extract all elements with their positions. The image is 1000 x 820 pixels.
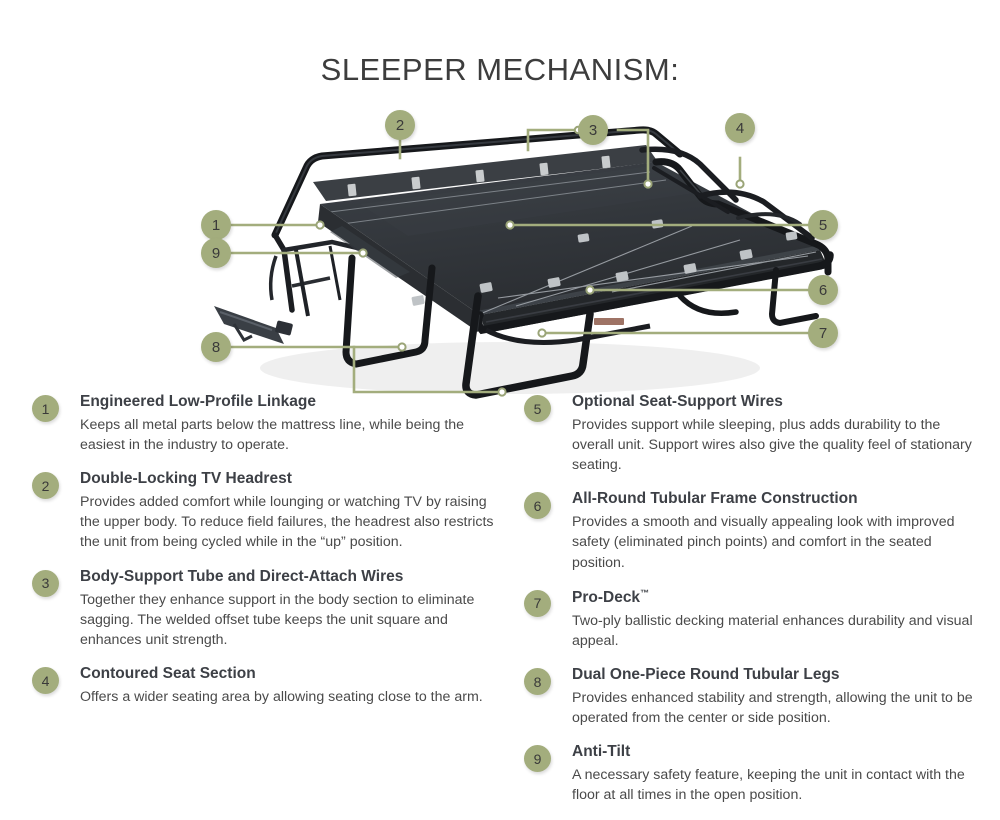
diagram-callout-8: 8	[201, 332, 231, 362]
feature-title-5: Optional Seat-Support Wires	[572, 392, 986, 413]
feature-title-3: Body-Support Tube and Direct-Attach Wire…	[80, 567, 500, 588]
mechanism-diagram: 1 2 3 4 5 6 7 8 9	[180, 100, 860, 400]
feature-item-8: 8 Dual One-Piece Round Tubular Legs Prov…	[524, 665, 986, 728]
feature-badge-6: 6	[524, 492, 551, 519]
feature-badge-8: 8	[524, 668, 551, 695]
feature-item-6: 6 All-Round Tubular Frame Construction P…	[524, 489, 986, 572]
diagram-callout-9: 9	[201, 238, 231, 268]
feature-description-2: Provides added comfort while lounging or…	[80, 492, 500, 552]
feature-item-1: 1 Engineered Low-Profile Linkage Keeps a…	[32, 392, 500, 455]
feature-item-7: 7 Pro-Deck™ Two-ply ballistic decking ma…	[524, 587, 986, 651]
feature-title-7-text: Pro-Deck	[572, 589, 640, 606]
diagram-callout-7: 7	[808, 318, 838, 348]
feature-description-1: Keeps all metal parts below the mattress…	[80, 415, 500, 455]
feature-column-right: 5 Optional Seat-Support Wires Provides s…	[524, 392, 986, 820]
feature-column-left: 1 Engineered Low-Profile Linkage Keeps a…	[32, 392, 500, 721]
feature-item-5: 5 Optional Seat-Support Wires Provides s…	[524, 392, 986, 475]
diagram-callout-4: 4	[725, 113, 755, 143]
feature-item-4: 4 Contoured Seat Section Offers a wider …	[32, 664, 500, 707]
feature-badge-2: 2	[32, 472, 59, 499]
diagram-callout-2: 2	[385, 110, 415, 140]
feature-badge-3: 3	[32, 570, 59, 597]
feature-description-7: Two-ply ballistic decking material enhan…	[572, 611, 986, 651]
feature-title-7: Pro-Deck™	[572, 587, 986, 609]
mechanism-illustration	[180, 100, 860, 400]
feature-title-6: All-Round Tubular Frame Construction	[572, 489, 986, 510]
feature-title-4: Contoured Seat Section	[80, 664, 500, 685]
feature-item-9: 9 Anti-Tilt A necessary safety feature, …	[524, 742, 986, 805]
feature-title-1: Engineered Low-Profile Linkage	[80, 392, 500, 413]
diagram-callout-6: 6	[808, 275, 838, 305]
feature-badge-1: 1	[32, 395, 59, 422]
feature-badge-4: 4	[32, 667, 59, 694]
feature-title-8: Dual One-Piece Round Tubular Legs	[572, 665, 986, 686]
feature-item-2: 2 Double-Locking TV Headrest Provides ad…	[32, 469, 500, 552]
feature-description-5: Provides support while sleeping, plus ad…	[572, 415, 986, 475]
feature-badge-7: 7	[524, 590, 551, 617]
feature-badge-5: 5	[524, 395, 551, 422]
diagram-callout-3: 3	[578, 115, 608, 145]
diagram-callout-5: 5	[808, 210, 838, 240]
feature-description-8: Provides enhanced stability and strength…	[572, 688, 986, 728]
feature-description-3: Together they enhance support in the bod…	[80, 590, 500, 650]
diagram-callout-1: 1	[201, 210, 231, 240]
feature-badge-9: 9	[524, 745, 551, 772]
page-title: SLEEPER MECHANISM:	[0, 52, 1000, 88]
feature-title-9: Anti-Tilt	[572, 742, 986, 763]
feature-description-6: Provides a smooth and visually appealing…	[572, 512, 986, 572]
feature-title-2: Double-Locking TV Headrest	[80, 469, 500, 490]
feature-description-4: Offers a wider seating area by allowing …	[80, 687, 500, 707]
trademark-symbol: ™	[640, 588, 649, 598]
low-profile-linkage	[214, 235, 366, 344]
feature-item-3: 3 Body-Support Tube and Direct-Attach Wi…	[32, 567, 500, 650]
feature-list: 1 Engineered Low-Profile Linkage Keeps a…	[0, 392, 1000, 792]
